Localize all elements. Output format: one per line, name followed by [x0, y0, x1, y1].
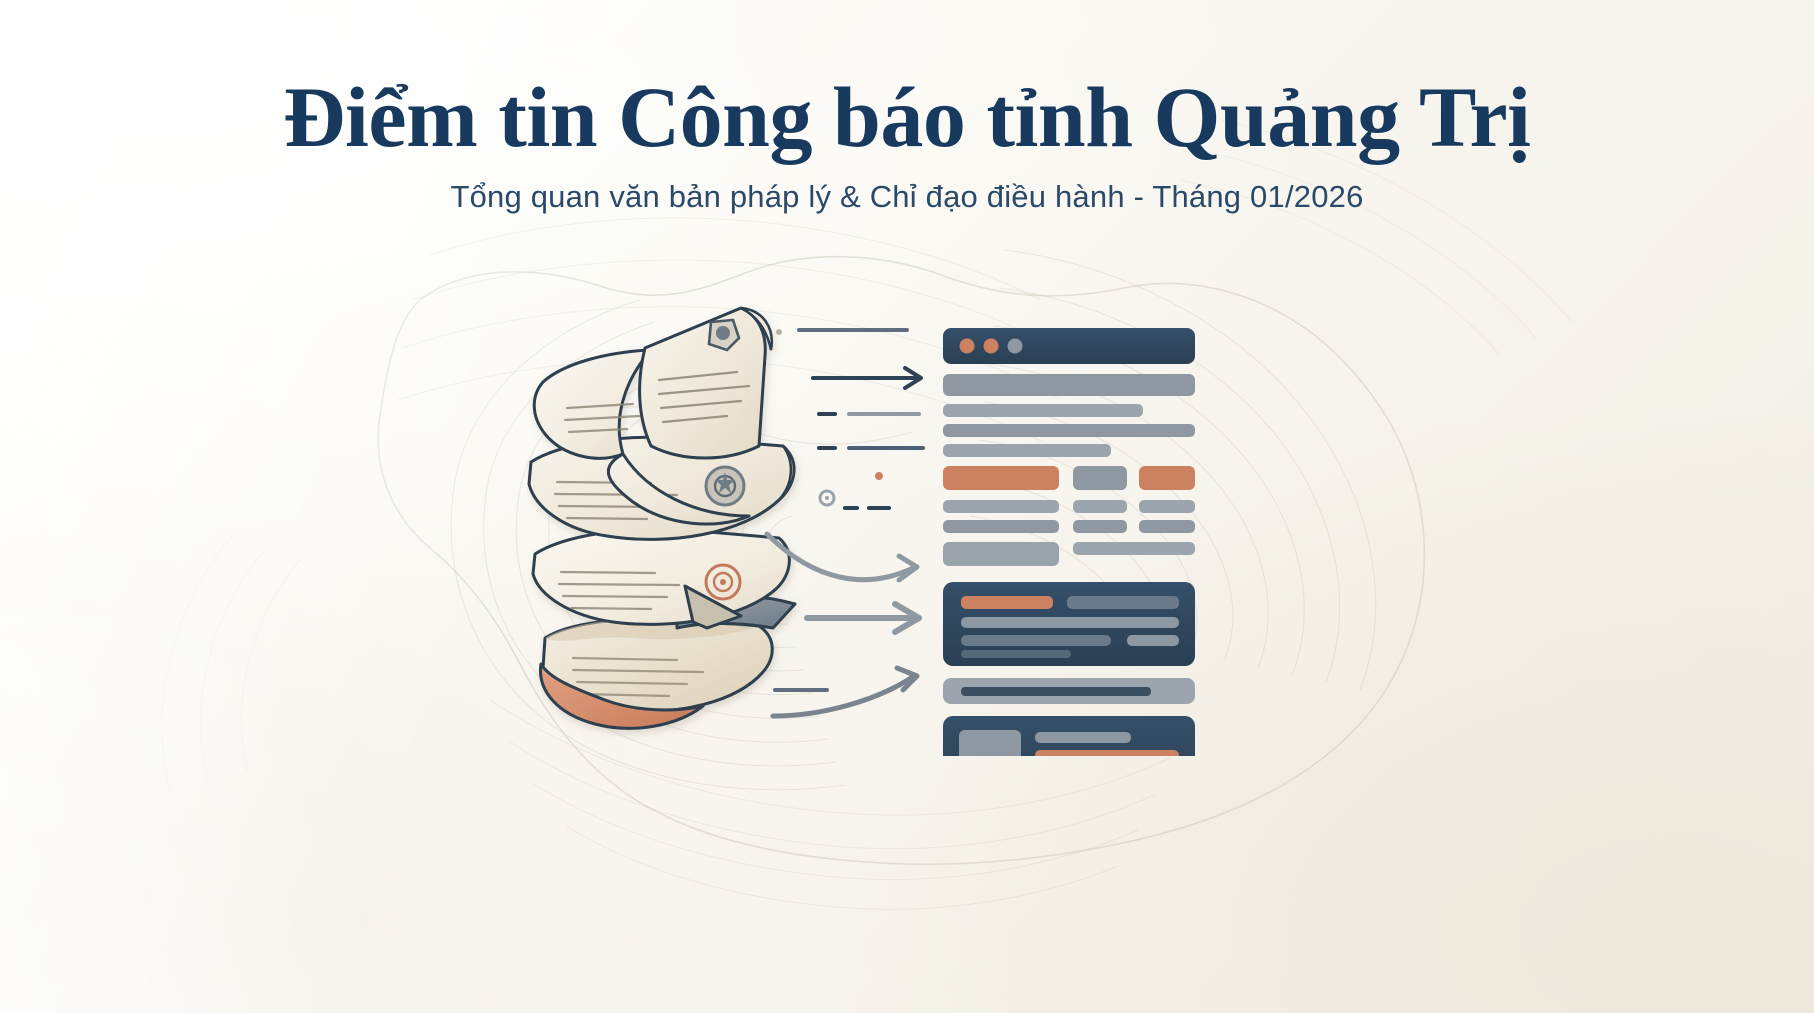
browser-window-panel — [943, 328, 1195, 364]
page-title: Điểm tin Công báo tỉnh Quảng Trị — [0, 72, 1814, 163]
hero-illustration — [527, 286, 1287, 756]
dot-marker — [776, 329, 782, 335]
document-stack — [529, 308, 795, 728]
digital-record-panels — [943, 328, 1195, 756]
official-seal-gray — [706, 467, 744, 505]
page-subtitle: Tổng quan văn bản pháp lý & Chỉ đạo điều… — [0, 177, 1814, 217]
background-light-sweep-lower — [0, 608, 544, 1013]
card-with-thumbnail-panel — [943, 716, 1195, 756]
transition-arrows — [767, 329, 923, 716]
window-dot-3 — [1008, 339, 1023, 354]
slide-canvas: Điểm tin Công báo tỉnh Quảng Trị Tổng qu… — [0, 0, 1814, 1013]
arrow-lower-straight — [807, 604, 919, 632]
record-list-panel — [943, 374, 1195, 457]
slim-bar-panel — [943, 678, 1195, 704]
window-dot-2 — [984, 339, 999, 354]
arrow-top-straight — [813, 368, 921, 388]
document-sheet-top — [640, 308, 772, 458]
window-dot-1 — [960, 339, 975, 354]
dot-terracotta — [875, 472, 883, 480]
slide-header: Điểm tin Công báo tỉnh Quảng Trị Tổng qu… — [0, 72, 1814, 217]
highlighted-row-panel — [943, 466, 1195, 566]
dark-form-panel — [943, 582, 1195, 666]
